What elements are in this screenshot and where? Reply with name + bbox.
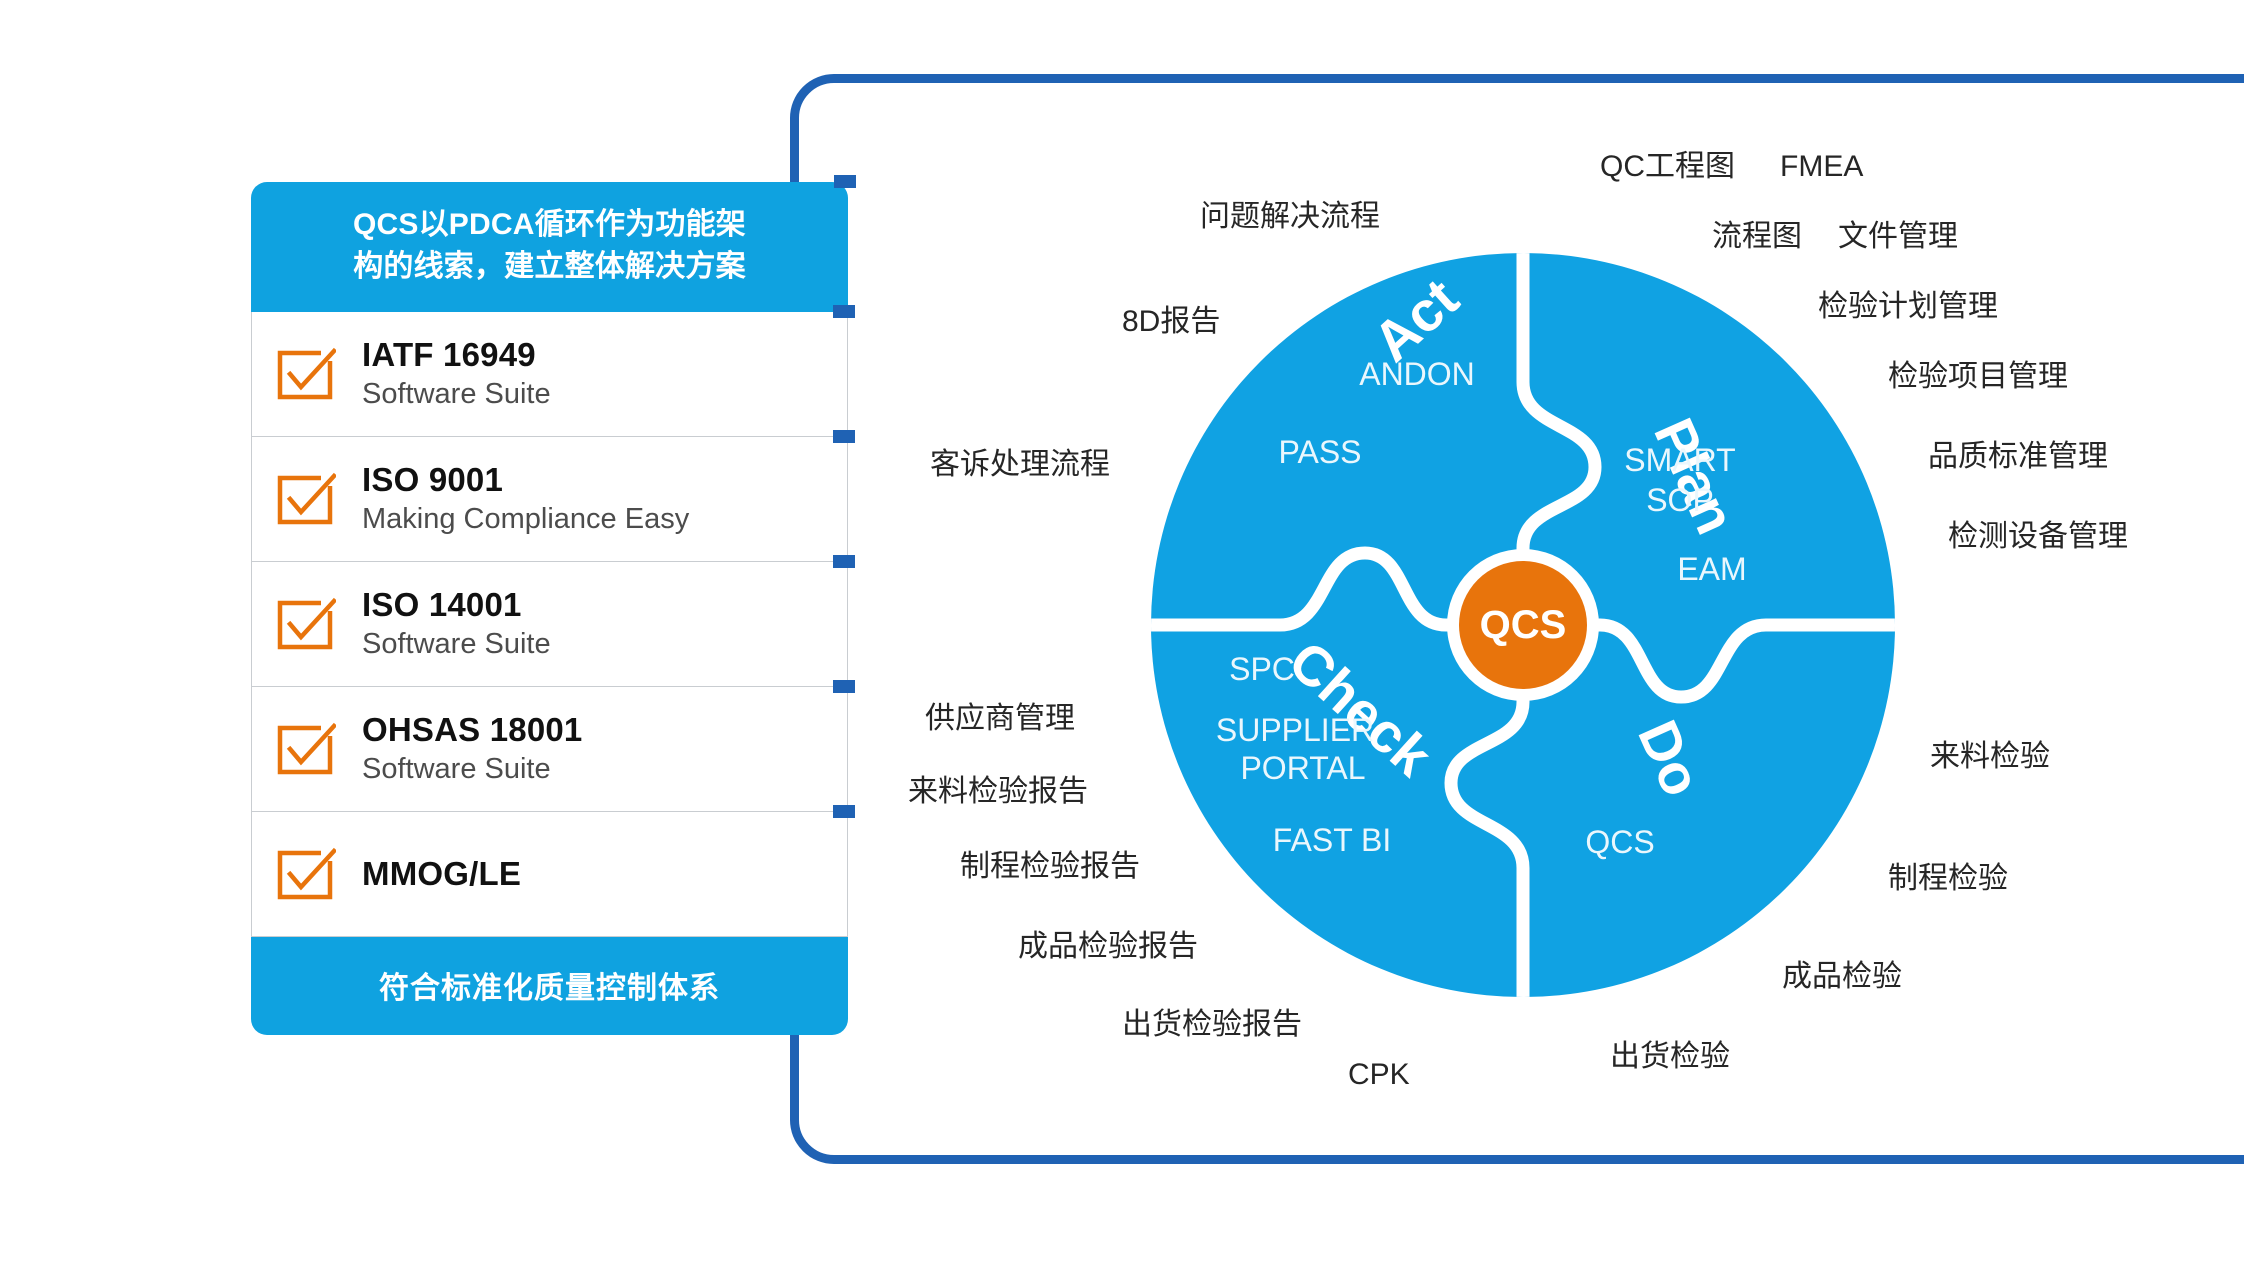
outer-label-zhicheng_bao: 制程检验报告	[960, 850, 1140, 884]
card-gap	[252, 430, 847, 435]
outer-label-zhicheng: 制程检验	[1888, 862, 2008, 896]
connector-tab	[833, 430, 855, 443]
cert-title: ISO 14001	[362, 586, 551, 624]
connector-tab	[834, 175, 856, 188]
cert-title: ISO 9001	[362, 461, 689, 499]
cert-card-iatf-16949[interactable]: IATF 16949 Software Suite	[251, 312, 848, 437]
module-label-supplier: SUPPLIER	[1216, 712, 1374, 748]
outer-label-gongyingshang: 供应商管理	[925, 702, 1075, 736]
card-gap	[252, 805, 847, 810]
outer-label-lailiao: 来料检验	[1930, 740, 2050, 774]
module-label-smart: SMART	[1624, 442, 1735, 478]
pdca-puzzle-diagram: QCS Act Plan Do Check ANDON PASS SMART S…	[1150, 252, 1896, 998]
module-label-andon: ANDON	[1359, 356, 1475, 392]
checkbox-check-icon	[274, 718, 336, 780]
cert-card-ohsas-18001[interactable]: OHSAS 18001 Software Suite	[251, 687, 848, 812]
outer-label-jiance: 检测设备管理	[1948, 520, 2128, 554]
module-label-pass: PASS	[1279, 434, 1362, 470]
module-label-eam: EAM	[1677, 551, 1746, 587]
module-label-portal: PORTAL	[1240, 750, 1365, 786]
panel-header: QCS以PDCA循环作为功能架 构的线索，建立整体解决方案	[251, 182, 848, 312]
cert-card-iso-9001[interactable]: ISO 9001 Making Compliance Easy	[251, 437, 848, 562]
cert-title: MMOG/LE	[362, 855, 521, 893]
checkbox-check-icon	[274, 843, 336, 905]
panel-footer-label: 符合标准化质量控制体系	[379, 972, 720, 1005]
outer-label-liuchengtu: 流程图	[1712, 220, 1802, 254]
outer-label-8d: 8D报告	[1122, 305, 1220, 339]
outer-label-pinzhi: 品质标准管理	[1928, 440, 2108, 474]
module-label-sop: SOP	[1646, 482, 1714, 518]
center-node-label: QCS	[1480, 603, 1567, 647]
outer-label-qc_gongchengtu: QC工程图	[1600, 150, 1735, 184]
checkbox-check-icon	[274, 343, 336, 405]
left-certification-panel: QCS以PDCA循环作为功能架 构的线索，建立整体解决方案 IATF 16949…	[251, 182, 848, 1035]
outer-label-lailiao_bao: 来料检验报告	[908, 775, 1088, 809]
outer-label-fmea: FMEA	[1780, 150, 1863, 184]
panel-header-line1: QCS以PDCA循环作为功能架	[353, 208, 746, 241]
card-gap	[252, 680, 847, 685]
outer-label-jianyan_jihua: 检验计划管理	[1818, 290, 1998, 324]
card-gap	[252, 555, 847, 560]
connector-tab	[833, 305, 855, 318]
cert-subtitle: Software Suite	[362, 751, 583, 787]
outer-label-chuhuo: 出货检验	[1610, 1040, 1730, 1074]
connector-tab	[833, 680, 855, 693]
outer-label-wenti: 问题解决流程	[1200, 200, 1380, 234]
checkbox-check-icon	[274, 593, 336, 655]
outer-label-chuhuo_bao: 出货检验报告	[1122, 1008, 1302, 1042]
cert-subtitle: Software Suite	[362, 626, 551, 662]
cert-card-iso-14001[interactable]: ISO 14001 Software Suite	[251, 562, 848, 687]
outer-label-jianyan_xiangmu: 检验项目管理	[1888, 360, 2068, 394]
module-label-spc: SPC	[1229, 651, 1295, 687]
cert-subtitle: Making Compliance Easy	[362, 501, 689, 537]
cert-title: IATF 16949	[362, 336, 551, 374]
connector-tab	[833, 805, 855, 818]
connector-tab	[833, 555, 855, 568]
outer-label-chengpin_bao: 成品检验报告	[1018, 930, 1198, 964]
module-label-fast-bi: FAST BI	[1273, 822, 1392, 858]
outer-label-kesu: 客诉处理流程	[930, 448, 1110, 482]
panel-footer: 符合标准化质量控制体系	[251, 937, 848, 1035]
checkbox-check-icon	[274, 468, 336, 530]
cert-title: OHSAS 18001	[362, 711, 583, 749]
panel-header-line2: 构的线索，建立整体解决方案	[277, 246, 822, 288]
outer-label-chengpin: 成品检验	[1782, 960, 1902, 994]
outer-label-cpk: CPK	[1348, 1058, 1410, 1092]
outer-label-wenjian: 文件管理	[1838, 220, 1958, 254]
module-label-qcs-do: QCS	[1585, 824, 1654, 860]
cert-subtitle: Software Suite	[362, 376, 551, 412]
cert-card-mmog-le[interactable]: MMOG/LE	[251, 812, 848, 937]
